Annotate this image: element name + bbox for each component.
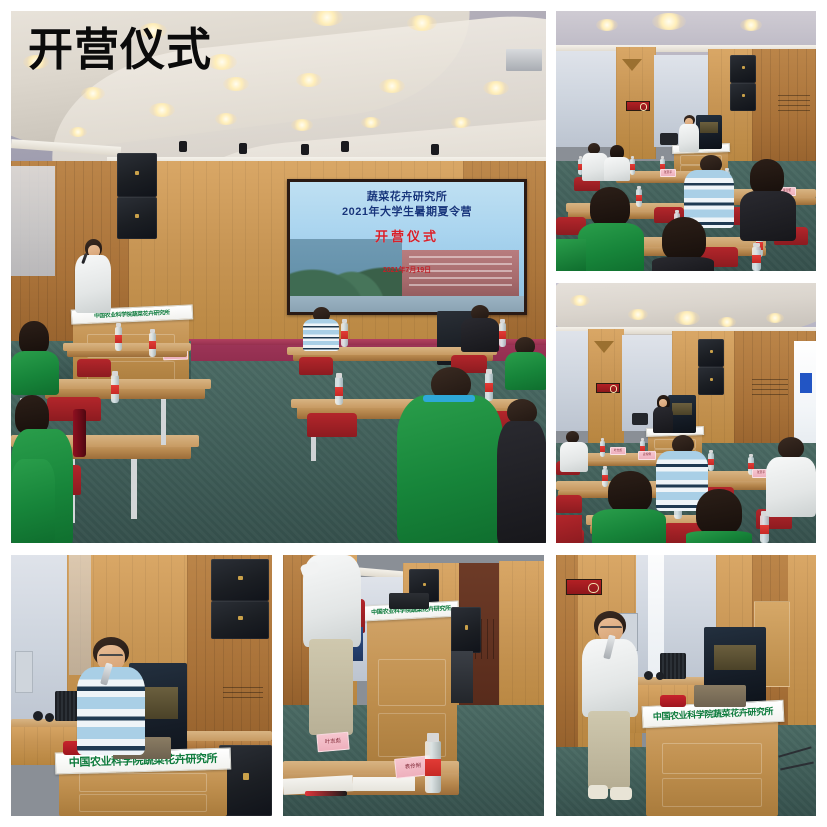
no-smoking-sign <box>566 579 602 595</box>
ceiling-projector <box>506 49 542 71</box>
wall-speaker-left-lower <box>117 197 157 239</box>
panel-audience-male-speaker: 中国农业科学院蔬菜花卉研究所 <box>556 11 816 271</box>
overlay-title: 开营仪式 <box>28 27 212 72</box>
speaker-female <box>652 395 674 433</box>
speaker-male <box>678 115 700 151</box>
wall-speaker-left <box>117 153 157 197</box>
name-card: 叶志彪 <box>316 732 349 753</box>
screen-line-camp: 2021年大学生暑期夏令营 <box>290 205 524 220</box>
speaker-person <box>580 611 640 803</box>
speaker-person <box>299 555 363 745</box>
panel-speaker-white-tshirt: 中国农业科学院蔬菜花卉研究所 <box>556 555 816 816</box>
speaker-person <box>75 637 147 763</box>
screen-line-ceremony: 开营仪式 <box>290 228 524 246</box>
panel-main-hall: 蔬菜花卉研究所 2021年大学生暑期夏令营 开营仪式 2021年7月19日 中国… <box>11 11 546 543</box>
podium <box>367 611 457 771</box>
speaker-main-hall <box>71 239 115 319</box>
panel-speaker-striped-polo: 中国农业科学院蔬菜花卉研究所 <box>11 555 272 816</box>
panel-speaker-white-shirt: 中国农业科学院蔬菜花卉研究所 叶志彪 <box>283 555 544 816</box>
screen-date: 2021年7月19日 <box>290 266 524 275</box>
screen-line-institute: 蔬菜花卉研究所 <box>290 190 524 205</box>
photo-collage: 蔬菜花卉研究所 2021年大学生暑期夏令营 开营仪式 2021年7月19日 中国… <box>0 0 827 827</box>
panel-audience-female-speaker: 中国农业科学院蔬菜花卉研究所 <box>556 283 816 543</box>
projection-screen: 蔬菜花卉研究所 2021年大学生暑期夏令营 开营仪式 2021年7月19日 <box>287 179 527 315</box>
